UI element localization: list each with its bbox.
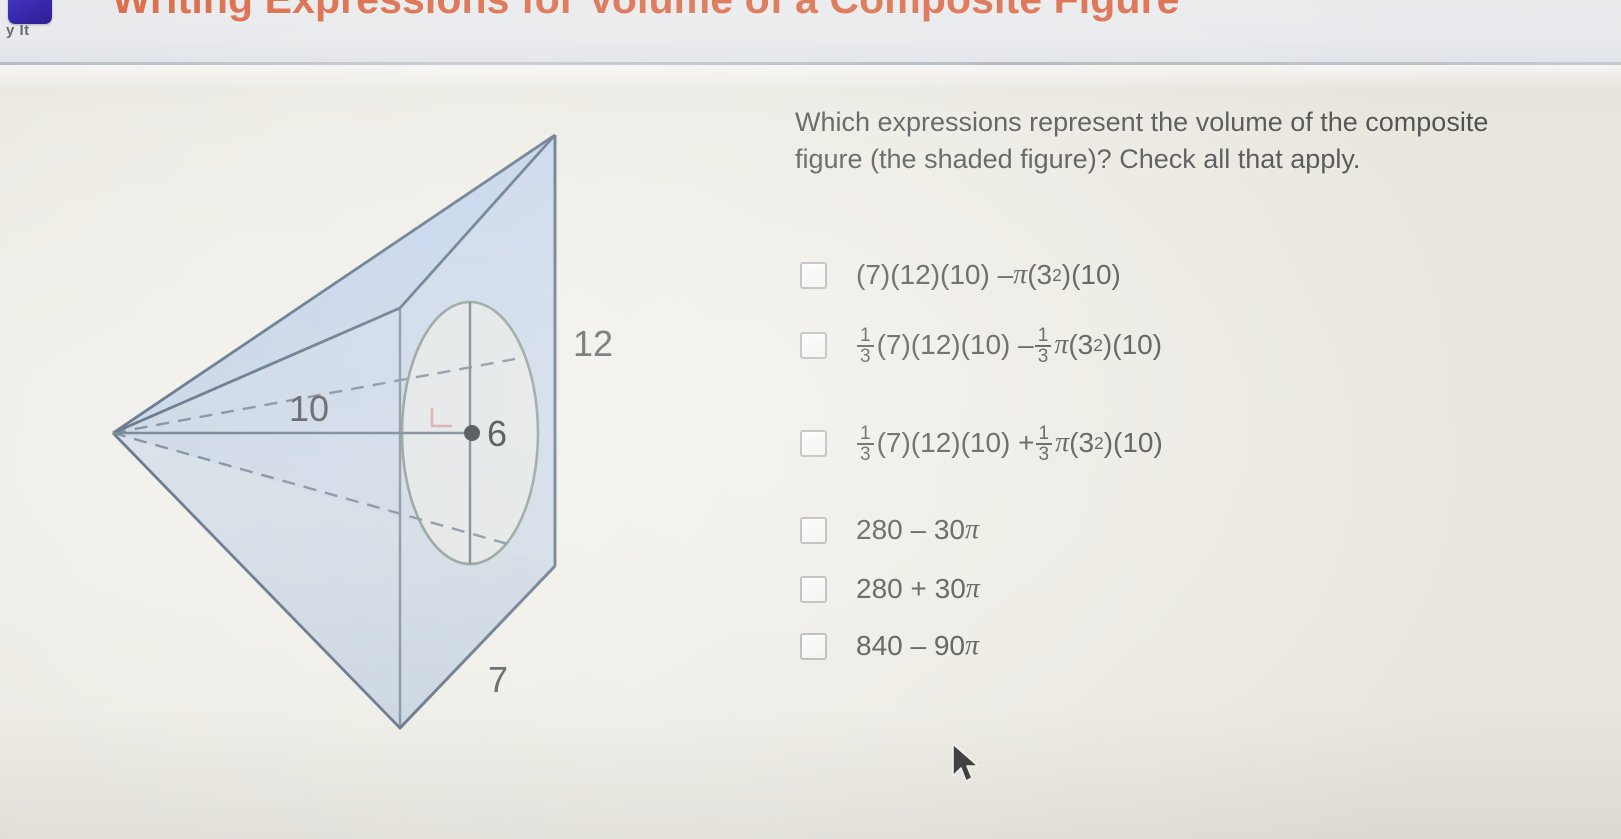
fraction: 13 <box>857 326 874 367</box>
page-title: Writing Expressions for Volume of a Comp… <box>112 0 1180 23</box>
label-6: 6 <box>487 413 507 454</box>
pi-symbol: π <box>1054 329 1068 361</box>
exponent: 2 <box>1052 265 1062 286</box>
fraction-denominator: 3 <box>857 443 874 464</box>
fraction-numerator: 1 <box>1036 424 1053 443</box>
badge-label: y It <box>6 22 30 39</box>
fraction: 13 <box>1035 326 1052 367</box>
figure-svg: 10 12 6 7 <box>60 96 720 776</box>
fraction-numerator: 1 <box>1035 326 1052 345</box>
label-7: 7 <box>488 659 508 700</box>
fraction: 13 <box>1036 424 1053 465</box>
fraction-numerator: 1 <box>857 326 874 345</box>
answer-choice-4[interactable]: 280 – 30π <box>800 514 979 546</box>
app-badge-icon <box>8 0 52 24</box>
checkbox-5[interactable] <box>800 576 827 603</box>
checkbox-2[interactable] <box>800 332 827 359</box>
exponent: 2 <box>1093 335 1103 356</box>
fraction-denominator: 3 <box>1035 345 1052 366</box>
label-12: 12 <box>573 323 613 364</box>
mouse-pointer-icon <box>950 742 984 788</box>
answer-choice-1[interactable]: (7)(12)(10) – π(32)(10) <box>800 259 1121 291</box>
fraction-denominator: 3 <box>857 345 874 366</box>
answer-choice-label-3: 13(7)(12)(10) + 13π(32)(10) <box>856 423 1163 464</box>
answer-choice-label-1: (7)(12)(10) – π(32)(10) <box>856 259 1121 291</box>
pi-symbol: π <box>1013 259 1027 291</box>
answer-choice-label-4: 280 – 30π <box>856 514 979 546</box>
checkbox-4[interactable] <box>800 517 827 544</box>
answer-choice-label-2: 13(7)(12)(10) – 13π(32)(10) <box>856 325 1162 366</box>
fraction-denominator: 3 <box>1036 443 1053 464</box>
answer-choice-5[interactable]: 280 + 30π <box>800 573 980 605</box>
label-10: 10 <box>289 388 329 429</box>
checkbox-1[interactable] <box>800 262 827 289</box>
center-point-dot <box>464 425 480 441</box>
pi-symbol: π <box>1055 427 1069 459</box>
answer-choice-label-6: 840 – 90π <box>856 630 979 662</box>
fraction: 13 <box>857 424 874 465</box>
fraction-numerator: 1 <box>857 424 874 443</box>
pi-symbol: π <box>965 514 979 546</box>
header-underglow <box>0 65 1621 91</box>
answer-choice-6[interactable]: 840 – 90π <box>800 630 979 662</box>
checkbox-3[interactable] <box>800 430 827 457</box>
question-panel: Which expressions represent the volume o… <box>795 104 1555 178</box>
pi-symbol: π <box>965 630 979 662</box>
question-prompt: Which expressions represent the volume o… <box>795 104 1530 178</box>
pi-symbol: π <box>966 573 980 605</box>
checkbox-6[interactable] <box>800 633 827 660</box>
answer-choice-2[interactable]: 13(7)(12)(10) – 13π(32)(10) <box>800 325 1162 366</box>
answer-choice-3[interactable]: 13(7)(12)(10) + 13π(32)(10) <box>800 423 1163 464</box>
answer-choice-label-5: 280 + 30π <box>856 573 980 605</box>
composite-figure: 10 12 6 7 <box>60 96 720 776</box>
exponent: 2 <box>1094 433 1104 454</box>
